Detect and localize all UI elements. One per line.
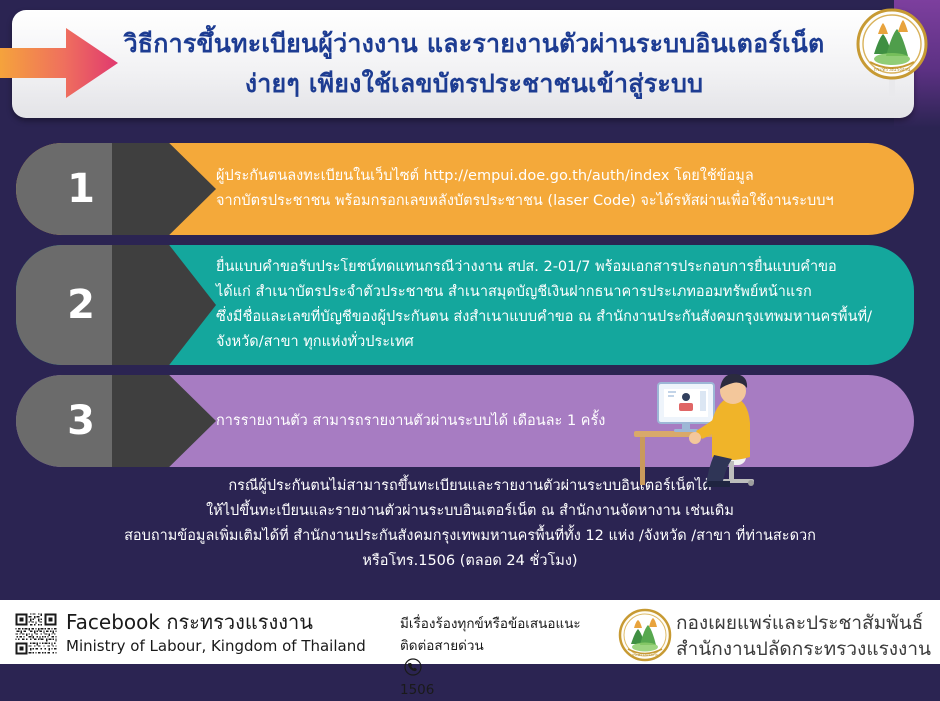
step-2-line-1: ยื่นแบบคำขอรับประโยชน์ทดแทนกรณีว่างงาน ส… (216, 255, 856, 280)
complaint-info: มีเรื่องร้องทุกข์หรือข้อเสนอแนะ ติดต่อสา… (400, 613, 581, 701)
header-banner: วิธีการขึ้นทะเบียนผู้ว่างงาน และรายงานตั… (0, 0, 940, 128)
ministry-name-english: Ministry of Labour, Kingdom of Thailand (66, 635, 366, 657)
note-line-2: ให้ไปขึ้นทะเบียนและรายงานตัวผ่านระบบอินเ… (0, 499, 940, 524)
facebook-page-name: Facebook กระทรวงแรงงาน (66, 610, 366, 635)
step-2-line-3: ซึ่งมีชื่อและเลขที่บัญชีของผู้ประกันตน ส… (216, 305, 856, 330)
arrow-right-icon (0, 26, 120, 100)
hotline-number: 1506 (400, 679, 581, 701)
page-title: วิธีการขึ้นทะเบียนผู้ว่างงาน และรายงานตั… (74, 24, 874, 104)
step-2-line-4: จังหวัด/สาขา ทุกแห่งทั่วประเทศ (216, 330, 856, 355)
svg-text:กระทรวงแรงงาน: กระทรวงแรงงาน (632, 653, 659, 657)
hotline-row: ติดต่อสายด่วน 1506 (400, 635, 581, 701)
note-line-1: กรณีผู้ประกันตนไม่สามารถขึ้นทะเบียนและรา… (0, 474, 940, 499)
step-2-line-2: ได้แก่ สำเนาบัตรประจำตัวประชาชน สำเนาสมุ… (216, 280, 856, 305)
facebook-info[interactable]: Facebook กระทรวงแรงงาน Ministry of Labou… (66, 610, 366, 657)
step-1-line-1: ผู้ประกันตนลงทะเบียนในเว็บไซต์ http://em… (216, 164, 856, 189)
person-at-computer-illustration (616, 361, 796, 491)
title-panel: วิธีการขึ้นทะเบียนผู้ว่างงาน และรายงานตั… (12, 10, 914, 118)
step-2-text: ยื่นแบบคำขอรับประโยชน์ทดแทนกรณีว่างงาน ส… (216, 245, 856, 365)
footer-note: กรณีผู้ประกันตนไม่สามารถขึ้นทะเบียนและรา… (0, 474, 940, 574)
qr-code-icon[interactable] (14, 612, 58, 656)
step-2-number: 2 (16, 245, 146, 365)
note-line-3: สอบถามข้อมูลเพิ่มเติมได้ที่ สำนักงานประก… (0, 524, 940, 549)
hotline-prefix: ติดต่อสายด่วน (400, 635, 581, 657)
bottom-bar: Facebook กระทรวงแรงงาน Ministry of Labou… (0, 596, 940, 664)
note-line-4: หรือโทร.1506 (ตลอด 24 ชั่วโมง) (0, 549, 940, 574)
office-name: สำนักงานปลัดกระทรวงแรงงาน (676, 636, 931, 662)
step-3-number: 3 (16, 375, 146, 467)
title-line-2: ง่ายๆ เพียงใช้เลขบัตรประชาชนเข้าสู่ระบบ (74, 64, 874, 104)
complaint-line-1: มีเรื่องร้องทุกข์หรือข้อเสนอแนะ (400, 613, 581, 635)
ministry-of-labour-seal-icon: กระทรวงแรงงาน (854, 4, 930, 96)
step-1-line-2: จากบัตรประชาชน พร้อมกรอกเลขหลังบัตรประชา… (216, 189, 856, 214)
step-1-number: 1 (16, 143, 146, 235)
department-name: กองเผยแพร่และประชาสัมพันธ์ (676, 610, 931, 636)
title-line-1: วิธีการขึ้นทะเบียนผู้ว่างงาน และรายงานตั… (124, 29, 825, 58)
phone-icon (404, 658, 422, 676)
step-1-text: ผู้ประกันตนลงทะเบียนในเว็บไซต์ http://em… (216, 143, 856, 235)
ministry-of-labour-seal-icon: กระทรวงแรงงาน (618, 608, 672, 662)
department-info: กองเผยแพร่และประชาสัมพันธ์ สำนักงานปลัดก… (676, 610, 931, 662)
svg-text:กระทรวงแรงงาน: กระทรวงแรงงาน (874, 67, 911, 73)
